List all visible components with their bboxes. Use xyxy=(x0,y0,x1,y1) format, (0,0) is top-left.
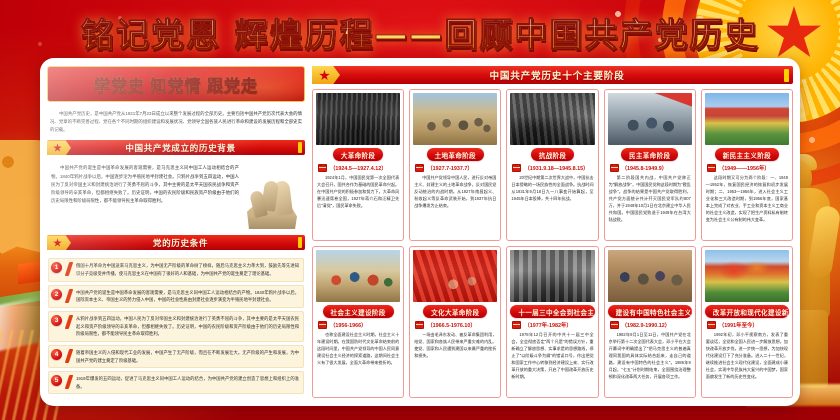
list-item-slash-icon xyxy=(65,315,74,329)
stage-title: 社会主义建设阶段 xyxy=(323,305,394,318)
stage-text: 中国共产党领导中国人民，进行反对帝国主义、封建主义的土地革命战争，反对国民党反动… xyxy=(413,174,497,238)
section-header-background: 党的历史条件 xyxy=(47,235,305,250)
stage-card: 大革命阶段 （1924.5—1927.4.12） 1924年1月，中国国民党第一… xyxy=(312,89,404,241)
poster-canvas: 版权所有 铭记党恩 辉煌历程——回顾中国共产党历史 学党史 知党情 跟党走 中国… xyxy=(0,0,840,420)
list-item: 2 中国共产党的诞生是中国革命发展的客观需要，是马克思主义同中国工人运动相结合的… xyxy=(48,285,304,308)
stage-text: 1978年12月召开的中共十一届三中全会，全会彻底否定"两个凡是"的错误方针，重… xyxy=(510,331,594,395)
stage-card: 民主革命阶段 （1945.8-1949.9） 第二阶段国共内战，中国共产党称正为… xyxy=(604,89,696,241)
list-item-slash-icon xyxy=(65,289,74,303)
stage-image xyxy=(316,93,400,145)
calendar-icon xyxy=(415,164,424,172)
stage-date-row: （1949——1956年） xyxy=(705,164,789,172)
list-item-number: 4 xyxy=(51,349,62,360)
stage-date-row: （1956-1966） xyxy=(316,321,400,329)
flag-star-icon xyxy=(47,235,71,250)
list-item-number: 1 xyxy=(51,262,62,273)
stage-card: 建设有中国特色社会主义阶段 （1982.9-1990.12） 1982年9月1日… xyxy=(604,246,696,398)
stage-title: 新民主主义阶段 xyxy=(715,148,779,161)
stage-date: （1966.5-1976.10） xyxy=(427,321,476,329)
flag-star-icon xyxy=(47,140,71,155)
stage-date-row: （1931.9.18—1945.8.15） xyxy=(510,164,594,172)
calendar-icon xyxy=(512,164,521,172)
stage-title: 大革命阶段 xyxy=(333,148,383,161)
page-title: 铭记党恩 辉煌历程——回顾中国共产党历史 xyxy=(0,8,840,56)
stage-title: 十一届三中全会到社会主义建设新时期 xyxy=(510,305,594,318)
left-column: 学党史 知党情 跟党走 中国共产党历史，是中国共产党从1921年7月23日成立以… xyxy=(47,66,305,398)
stage-card: 社会主义建设阶段 （1956-1966） 也称全面建设社会主义时期。社会主义十年… xyxy=(312,246,404,398)
calendar-icon xyxy=(610,164,619,172)
list-item: 3 从鸦片战争到五四运动，中国人民为了反对帝国主义和封建统治进行了英勇不屈的斗争… xyxy=(48,311,304,342)
stage-image xyxy=(413,93,497,145)
section-header-background: 中国共产党成立的历史背景 xyxy=(47,140,305,155)
left-banner-text: 学党史 知党情 跟党走 xyxy=(94,72,258,96)
stage-date: （1982.9-1990.12） xyxy=(622,321,671,329)
stage-date: （1924.5—1927.4.12） xyxy=(330,164,387,172)
stage-date: （1956-1966） xyxy=(330,321,367,329)
right-panel-header: 中国共产党历史十个主要阶段 xyxy=(312,66,793,84)
stage-image xyxy=(413,250,497,302)
section1-title: 中国共产党成立的历史背景 xyxy=(71,142,298,154)
stage-image xyxy=(608,250,692,302)
list-item-text: 俄国十月革命为中国送来马克思主义，为中国无产阶级的革命树了榜样，随后马克思主义力… xyxy=(76,262,299,277)
stage-date: （1949——1956年） xyxy=(719,164,770,172)
flag-star-icon xyxy=(312,66,340,84)
stage-date: （1931.9.18—1945.8.15） xyxy=(524,164,588,172)
stage-date-row: （1945.8-1949.9） xyxy=(608,164,692,172)
list-item-slash-icon xyxy=(65,375,74,389)
stage-image xyxy=(510,93,594,145)
section-header-cap xyxy=(298,142,302,153)
intro-paragraph: 中国共产党历史，是中国共产党从1921年7月23日成立以来整个发展过程的全部历史… xyxy=(47,106,305,136)
list-item: 1 俄国十月革命为中国送来马克思主义，为中国无产阶级的革命树了榜样，随后马克思主… xyxy=(48,258,304,281)
list-item-text: 中国共产党的诞生是中国革命发展的客观需要，是马克思主义同中国工人运动相结合的产物… xyxy=(76,289,299,304)
list-item-text: 随着帝国主义的入侵和现代工业的发展，中国产生了无产阶级，而且在不断发展壮大。无产… xyxy=(76,349,299,364)
stage-text: 1924年1月，中国国民党第一次全国代表大会召开，国共合作为基础的国民革命兴起。… xyxy=(316,174,400,238)
stage-card: 文化大革命阶段 （1966.5-1976.10） 一场由毛泽东发动、被反革命集团… xyxy=(409,246,501,398)
stage-card: 新民主主义阶段 （1949——1956年） 这段时期又可分为两个阶段：一、194… xyxy=(701,89,793,241)
conditions-list: 1 俄国十月革命为中国送来马克思主义，为中国无产阶级的革命树了榜样，随后马克思主… xyxy=(47,254,305,394)
list-item-number: 2 xyxy=(51,289,62,300)
stage-date-row: （1927.7-1937.7） xyxy=(413,164,497,172)
stage-text: 也称全面建设社会主义时期。社会主义十年建设时期。在我国防时代文化革命结束前的这段… xyxy=(316,331,400,395)
stage-title: 建设有中国特色社会主义阶段 xyxy=(608,305,692,318)
stage-date: （1945.8-1949.9） xyxy=(622,164,668,172)
stage-date: （1977年-1982年） xyxy=(524,321,571,329)
list-item-number: 3 xyxy=(51,315,62,326)
section2-title: 党的历史条件 xyxy=(71,237,298,249)
list-item: 5 1919年爆发的五四运动，促进了马克思主义同中国工人运动的结合，为中国共产党… xyxy=(48,371,304,394)
list-item: 4 随着帝国主义的入侵和现代工业的发展，中国产生了无产阶级，而且在不断发展壮大。… xyxy=(48,345,304,368)
stage-image xyxy=(510,250,594,302)
calendar-icon xyxy=(707,321,716,329)
stage-text: 1992年初，邓小平视察南方，发表了重要谈话，全党和全国人民进一步解放思想，加快… xyxy=(705,331,789,395)
stage-text: 一场由毛泽东发动、被反革命集团利用，给党、国家和各族人民带来严重灾难的内乱。使党… xyxy=(413,331,497,395)
stage-image xyxy=(705,250,789,302)
stage-title: 抗战阶段 xyxy=(531,148,575,161)
right-panel-title: 中国共产党历史十个主要阶段 xyxy=(340,68,784,82)
calendar-icon xyxy=(610,321,619,329)
left-banner: 学党史 知党情 跟党走 xyxy=(47,66,305,102)
stages-grid: 大革命阶段 （1924.5—1927.4.12） 1924年1月，中国国民党第一… xyxy=(312,89,793,398)
list-item-text: 从鸦片战争到五四运动，中国人民为了反对帝国主义和封建统治进行了英勇不屈的斗争，其… xyxy=(76,315,299,338)
stage-text: 这段时期又可分为两个阶段：一、1949—1952年，恢复国民经济的恢复和初步发展… xyxy=(705,174,789,238)
stage-title: 文化大革命阶段 xyxy=(423,305,487,318)
stage-text: 第二阶段国共内战，中国共产党称正为"解放战争"，中国国民党称这段时期为"戡乱战争… xyxy=(608,174,692,238)
monument-sculpture-image xyxy=(241,169,303,231)
stage-date-row: （1977年-1982年） xyxy=(510,321,594,329)
stage-date-row: （1982.9-1990.12） xyxy=(608,321,692,329)
stage-title: 改革开放和现代化建设新阶段 xyxy=(705,305,789,318)
stage-date-row: （1924.5—1927.4.12） xyxy=(316,164,400,172)
calendar-icon xyxy=(318,321,327,329)
poster-board: 学党史 知党情 跟党走 中国共产党历史，是中国共产党从1921年7月23日成立以… xyxy=(40,58,800,406)
calendar-icon xyxy=(707,164,716,172)
stage-title: 民主革命阶段 xyxy=(621,148,678,161)
right-header-cap xyxy=(784,69,789,82)
stage-text: 20世纪中期第二次世界大战中，中国抗击日本侵略的一场民族性的全面战争。抗战时间从… xyxy=(510,174,594,238)
stage-image xyxy=(608,93,692,145)
stage-date-row: （1991年至今） xyxy=(705,321,789,329)
stage-image xyxy=(316,250,400,302)
list-item-text: 1919年爆发的五四运动，促进了马克思主义同中国工人运动的结合，为中国共产党的建… xyxy=(76,375,299,390)
stage-card: 抗战阶段 （1931.9.18—1945.8.15） 20世纪中期第二次世界大战… xyxy=(506,89,598,241)
list-item-number: 5 xyxy=(51,375,62,386)
list-item-slash-icon xyxy=(65,349,74,363)
stage-card: 土地革命阶段 （1927.7-1937.7） 中国共产党领导中国人民，进行反对帝… xyxy=(409,89,501,241)
calendar-icon xyxy=(415,321,424,329)
stage-card: 十一届三中全会到社会主义建设新时期 （1977年-1982年） 1978年12月… xyxy=(506,246,598,398)
list-item-slash-icon xyxy=(65,262,74,276)
section-header-cap xyxy=(298,237,302,248)
stage-date-row: （1966.5-1976.10） xyxy=(413,321,497,329)
stage-date: （1927.7-1937.7） xyxy=(427,164,473,172)
section1-body: 中国共产党的诞生是中国革命发展的客观需要，是马克思主义同中国工人运动相结合的产物… xyxy=(47,159,305,231)
calendar-icon xyxy=(318,164,327,172)
calendar-icon xyxy=(512,321,521,329)
stage-text: 1982年9月1日至11日，中国共产党在北京举行第十二次全国代表大会，邓小平在大… xyxy=(608,331,692,395)
page-title-text: 铭记党恩 辉煌历程——回顾中国共产党历史 xyxy=(81,15,760,54)
stage-date: （1991年至今） xyxy=(719,321,758,329)
stage-image xyxy=(705,93,789,145)
right-column: 中国共产党历史十个主要阶段 大革命阶段 （1924.5—1927.4.12） 1… xyxy=(312,66,793,398)
stage-card: 改革开放和现代化建设新阶段 （1991年至今） 1992年初，邓小平视察南方，发… xyxy=(701,246,793,398)
stage-title: 土地革命阶段 xyxy=(427,148,484,161)
